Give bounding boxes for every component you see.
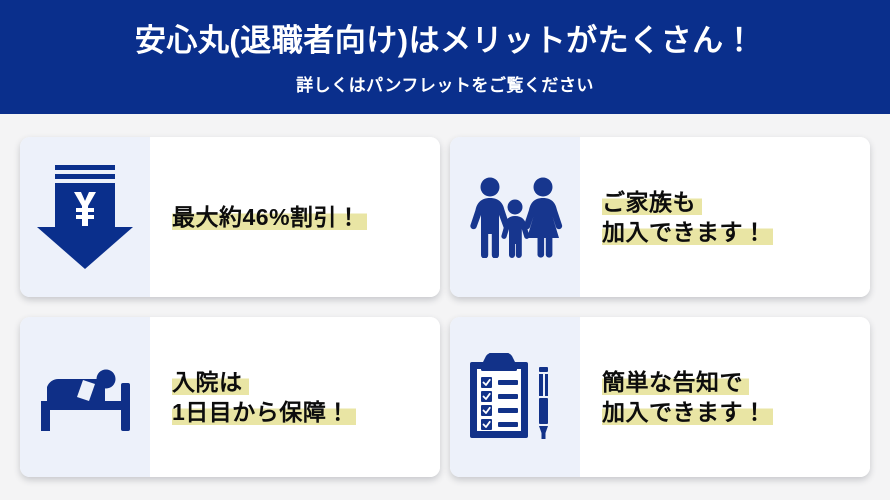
hospital-bed-icon	[33, 363, 137, 431]
card-text-highlight: 入院は	[172, 369, 249, 395]
card-text-panel: 簡単な告知で 加入できます！	[580, 317, 870, 477]
card-text-line: 最大約46%割引！	[172, 202, 430, 232]
benefit-card-hospitalization[interactable]: 入院は 1日目から保障！	[20, 317, 440, 477]
card-text-panel: 最大約46%割引！	[150, 137, 440, 297]
clipboard-shape	[470, 353, 528, 438]
card-text-panel: ご家族も 加入できます！	[580, 137, 870, 297]
page-title: 安心丸(退職者向け)はメリットがたくさん！	[135, 22, 755, 59]
card-icon-panel	[20, 137, 150, 297]
page-subtitle: 詳しくはパンフレットをご覧ください	[296, 71, 594, 96]
benefit-card-discount[interactable]: 最大約46%割引！	[20, 137, 440, 297]
card-text-line: 入院は	[172, 367, 430, 397]
card-text-highlight: 1日目から保障！	[172, 399, 356, 425]
benefit-card-grid: 最大約46%割引！ ご家族も	[0, 114, 890, 500]
benefit-card-family[interactable]: ご家族も 加入できます！	[450, 137, 870, 297]
card-text-highlight: 最大約46%割引！	[172, 204, 367, 230]
card-text-panel: 入院は 1日目から保障！	[150, 317, 440, 477]
card-text-highlight: 簡単な告知で	[602, 369, 749, 395]
card-text-highlight: 加入できます！	[602, 399, 773, 425]
card-text-line: 簡単な告知で	[602, 367, 860, 397]
card-text-line: ご家族も	[602, 187, 860, 217]
clipboard-pen-icon	[468, 353, 562, 441]
yen-down-arrow-icon	[37, 165, 133, 269]
benefit-card-declaration[interactable]: 簡単な告知で 加入できます！	[450, 317, 870, 477]
card-text-line: 1日目から保障！	[172, 397, 430, 427]
page-header: 安心丸(退職者向け)はメリットがたくさん！ 詳しくはパンフレットをご覧ください	[0, 0, 890, 114]
card-text-highlight: 加入できます！	[602, 219, 773, 245]
pen-shape	[539, 367, 548, 439]
card-icon-panel	[450, 137, 580, 297]
card-text-line: 加入できます！	[602, 397, 860, 427]
family-icon	[465, 176, 565, 258]
card-icon-panel	[20, 317, 150, 477]
card-icon-panel	[450, 317, 580, 477]
card-text-highlight: ご家族も	[602, 189, 702, 215]
card-text-line: 加入できます！	[602, 217, 860, 247]
